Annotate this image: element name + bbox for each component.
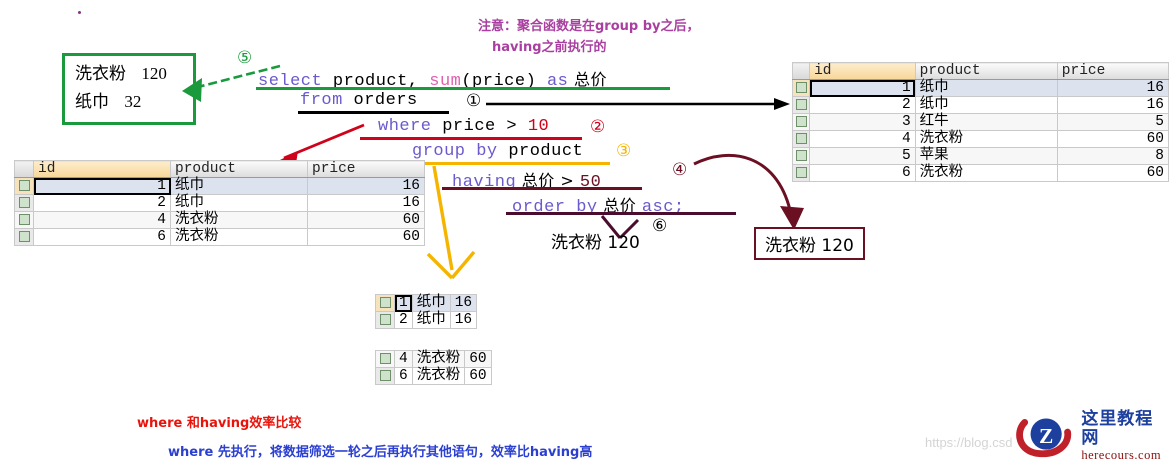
having-underline: [442, 187, 642, 190]
cell-price[interactable]: 60: [1057, 131, 1168, 148]
row-marker[interactable]: [793, 165, 810, 182]
cell-id[interactable]: 1: [34, 178, 171, 195]
final-result-plain: 洗衣粉 120: [551, 228, 640, 253]
row-marker[interactable]: [793, 114, 810, 131]
row-marker[interactable]: [376, 312, 395, 329]
row-marker-header: [15, 161, 34, 178]
table-row[interactable]: 4 洗衣粉 60: [793, 131, 1169, 148]
cell-product[interactable]: 纸巾: [171, 195, 308, 212]
row-marker-icon: [19, 214, 30, 225]
table-row[interactable]: 2 纸巾 16: [376, 312, 477, 329]
svg-text:Z: Z: [1039, 424, 1053, 448]
row-marker[interactable]: [15, 178, 34, 195]
table-row[interactable]: 6 洗衣粉 60: [376, 368, 492, 385]
logo-title-cn: 这里教程网: [1081, 410, 1169, 448]
cell-product[interactable]: 洗衣粉: [915, 165, 1057, 182]
row-marker-icon: [796, 133, 807, 144]
note-line-1: 注意：聚合函数是在group by之后，: [478, 16, 700, 37]
green-box-row-0: 洗衣粉 120: [75, 60, 183, 88]
row-marker-icon: [380, 314, 391, 325]
group-zhijin-table[interactable]: 1 纸巾 16 2 纸巾 16: [375, 294, 477, 329]
logo-text-block: 这里教程网 herecours.com: [1081, 410, 1169, 462]
cell-price[interactable]: 60: [1057, 165, 1168, 182]
orders-table[interactable]: id product price 1 纸巾 16 2 纸巾 16 3 红牛 5 …: [792, 62, 1169, 182]
row-marker-icon: [19, 197, 30, 208]
sql-line-groupby: group by product: [412, 142, 583, 161]
cell-price[interactable]: 16: [1057, 80, 1168, 97]
cell-product[interactable]: 洗衣粉: [171, 212, 308, 229]
cell-id[interactable]: 2: [395, 312, 413, 329]
sql-line-where: where price > 10: [378, 117, 549, 136]
black-arrow-to-orders-table: [486, 94, 796, 114]
row-marker[interactable]: [793, 131, 810, 148]
column-header-id[interactable]: id: [810, 63, 916, 80]
row-marker-icon: [19, 180, 30, 191]
note-line-2: having之前执行的: [492, 37, 607, 58]
cell-price[interactable]: 16: [450, 295, 476, 312]
sql-from-table: orders: [343, 91, 418, 110]
cell-product[interactable]: 苹果: [915, 148, 1057, 165]
sql-keyword-groupby: group by: [412, 142, 498, 161]
green-box-total-1: 32: [124, 92, 141, 111]
marker-2: ②: [590, 119, 605, 136]
select-underline: [256, 87, 670, 90]
cell-product[interactable]: 洗衣粉: [412, 351, 465, 368]
green-box-total-0: 120: [141, 64, 167, 83]
marker-4: ④: [672, 162, 687, 179]
cell-id[interactable]: 2: [34, 195, 171, 212]
cell-product[interactable]: 纸巾: [915, 97, 1057, 114]
cell-id[interactable]: 6: [810, 165, 916, 182]
cell-product[interactable]: 纸巾: [171, 178, 308, 195]
table-row[interactable]: 6 洗衣粉 60: [793, 165, 1169, 182]
green-box-product-1: 纸巾: [75, 92, 109, 112]
green-box-product-0: 洗衣粉: [75, 64, 126, 84]
cell-price[interactable]: 16: [450, 312, 476, 329]
row-marker-icon: [380, 370, 391, 381]
row-marker[interactable]: [15, 229, 34, 246]
row-marker[interactable]: [376, 351, 395, 368]
cell-price[interactable]: 16: [308, 195, 425, 212]
cell-product[interactable]: 洗衣粉: [412, 368, 465, 385]
row-marker[interactable]: [15, 195, 34, 212]
where-underline: [360, 137, 582, 140]
cell-product[interactable]: 纸巾: [412, 295, 450, 312]
cell-price[interactable]: 8: [1057, 148, 1168, 165]
footer-line-2: where 先执行，将数据筛选一轮之后再执行其他语句，效率比having高: [168, 441, 592, 460]
table-row[interactable]: 5 苹果 8: [793, 148, 1169, 165]
row-marker-icon: [380, 297, 391, 308]
row-marker[interactable]: [793, 80, 810, 97]
logo-mark-icon: Z: [1013, 412, 1077, 460]
cell-price[interactable]: 60: [308, 229, 425, 246]
cell-id[interactable]: 4: [810, 131, 916, 148]
column-header-product[interactable]: product: [915, 63, 1057, 80]
row-marker[interactable]: [793, 148, 810, 165]
cell-id[interactable]: 3: [810, 114, 916, 131]
table-row[interactable]: 3 红牛 5: [793, 114, 1169, 131]
sql-keyword-from: from: [300, 91, 343, 110]
where-filtered-table[interactable]: id product price 1 纸巾 16 2 纸巾 16 4 洗衣粉 6…: [14, 160, 425, 246]
table-row[interactable]: 1 纸巾 16: [15, 178, 425, 195]
row-marker[interactable]: [793, 97, 810, 114]
marker-6: ⑥: [652, 218, 667, 235]
sql-groupby-expr: product: [498, 142, 584, 161]
row-marker-icon: [380, 353, 391, 364]
cell-product[interactable]: 洗衣粉: [171, 229, 308, 246]
cell-id[interactable]: 1: [810, 80, 916, 97]
cell-price[interactable]: 60: [465, 368, 491, 385]
cell-price[interactable]: 5: [1057, 114, 1168, 131]
final-result-boxed: 洗衣粉 120: [754, 227, 865, 260]
cell-id[interactable]: 4: [395, 351, 413, 368]
sql-where-value: 10: [528, 117, 549, 136]
row-marker-icon: [796, 82, 807, 93]
cell-product[interactable]: 纸巾: [915, 80, 1057, 97]
column-header-price[interactable]: price: [1057, 63, 1168, 80]
site-logo: Z 这里教程网 herecours.com: [1013, 410, 1169, 462]
table-header-row: id product price: [793, 63, 1169, 80]
cell-product[interactable]: 红牛: [915, 114, 1057, 131]
cell-id[interactable]: 5: [810, 148, 916, 165]
cell-id[interactable]: 6: [395, 368, 413, 385]
stray-dot: [78, 11, 81, 14]
from-underline: [298, 111, 449, 114]
cell-id[interactable]: 4: [34, 212, 171, 229]
column-header-price[interactable]: price: [308, 161, 425, 178]
marker-3: ③: [616, 143, 631, 160]
cell-price[interactable]: 16: [308, 178, 425, 195]
cell-id[interactable]: 1: [395, 295, 413, 312]
cell-product[interactable]: 洗衣粉: [915, 131, 1057, 148]
table-row[interactable]: 2 纸巾 16: [15, 195, 425, 212]
sql-where-expr: price >: [432, 117, 528, 136]
row-marker-icon: [796, 150, 807, 161]
row-marker-icon: [796, 99, 807, 110]
cell-id[interactable]: 2: [810, 97, 916, 114]
cell-price[interactable]: 60: [465, 351, 491, 368]
table-row[interactable]: 1 纸巾 16: [793, 80, 1169, 97]
cell-price[interactable]: 60: [308, 212, 425, 229]
table-header-row: id product price: [15, 161, 425, 178]
column-header-id[interactable]: id: [34, 161, 171, 178]
marker-1: ①: [466, 93, 481, 110]
table-row[interactable]: 6 洗衣粉 60: [15, 229, 425, 246]
logo-domain: herecours.com: [1081, 448, 1169, 462]
table-row[interactable]: 4 洗衣粉 60: [376, 351, 492, 368]
row-marker-icon: [796, 167, 807, 178]
row-marker-icon: [796, 116, 807, 127]
table-row[interactable]: 4 洗衣粉 60: [15, 212, 425, 229]
row-marker-icon: [19, 231, 30, 242]
table-row[interactable]: 1 纸巾 16: [376, 295, 477, 312]
sql-line-from: from orders: [300, 91, 418, 110]
footer-line-1: where 和having效率比较: [137, 412, 301, 431]
group-xiyifen-table[interactable]: 4 洗衣粉 60 6 洗衣粉 60: [375, 350, 492, 385]
marker-5: ⑤: [237, 50, 252, 67]
row-marker[interactable]: [376, 295, 395, 312]
row-marker-header: [793, 63, 810, 80]
green-box-row-1: 纸巾 32: [75, 88, 183, 116]
row-marker[interactable]: [376, 368, 395, 385]
row-marker[interactable]: [15, 212, 34, 229]
column-header-product[interactable]: product: [171, 161, 308, 178]
sql-keyword-where: where: [378, 117, 432, 136]
table-row[interactable]: 2 纸巾 16: [793, 97, 1169, 114]
cell-product[interactable]: 纸巾: [412, 312, 450, 329]
groupby-underline: [403, 162, 610, 165]
cell-price[interactable]: 16: [1057, 97, 1168, 114]
watermark-text: https://blog.csd: [925, 435, 1012, 450]
cell-id[interactable]: 6: [34, 229, 171, 246]
